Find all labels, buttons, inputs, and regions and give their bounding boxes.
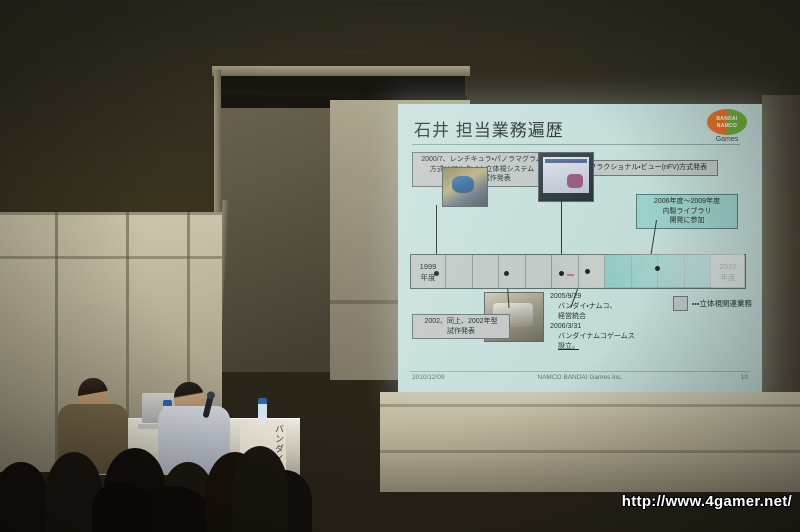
footer-company: NAMCO BANDAI Games Inc.: [398, 374, 762, 381]
timeline-start-year: 1999: [420, 261, 437, 272]
timeline-end-year: 2010: [720, 261, 737, 272]
audience-head: [232, 446, 288, 532]
audience-head: [92, 482, 150, 532]
event-1-line2: 設立。: [550, 342, 635, 352]
logo-line2: NAMCO: [707, 123, 747, 129]
bandai-namco-logo: BANDAI NAMCO Games: [700, 109, 754, 143]
timeline-dot-2006: [655, 266, 660, 271]
event-0-line1: バンダイ・ナムコ、: [550, 302, 635, 312]
timeline-dot-2004: [559, 271, 564, 276]
timeline-cell: [579, 255, 606, 288]
timeline-dot-2000: [434, 271, 439, 276]
legend-swatch-icon: [673, 296, 688, 311]
timeline-cell-highlight: [685, 255, 712, 288]
event-0-date: 2005/9/29: [550, 292, 635, 302]
booth-top-beam: [212, 66, 470, 76]
timeline-dot-2005: [585, 269, 590, 274]
partition-panel-far-right: [762, 95, 800, 425]
timeline-cell: [499, 255, 526, 288]
timeline: 1999 年度 2010 年度: [410, 254, 746, 289]
slide-title: 石井 担当業務遍歴: [414, 116, 564, 141]
timeline-end-unit: 年度: [721, 272, 736, 283]
timeline-cell: [526, 255, 553, 288]
timeline-cell: [446, 255, 473, 288]
callout-2006: 2006年度～2009年度 内製ライブラリ 開発に参加: [636, 194, 738, 229]
logo-oval-icon: BANDAI NAMCO: [707, 109, 747, 135]
title-divider: [412, 144, 740, 145]
timeline-cell-highlight: [658, 255, 685, 288]
timeline-pink-marker: [567, 274, 574, 276]
photo-nfv-screenshot: [538, 152, 594, 202]
logo-line1: BANDAI: [707, 116, 747, 122]
event-0-line2: 経営統合: [550, 312, 635, 322]
event-1-line1: バンダイナムコゲームス: [550, 332, 635, 342]
callout-2002-line1: 2002、同上、2002年型: [416, 317, 506, 327]
footer-page-number: 10: [741, 374, 748, 381]
callout-2000-line1: 2000/7、レンチキュラ・パノラマグラム: [416, 155, 548, 165]
timeline-start-label: 1999 年度: [411, 255, 446, 288]
event-1-date: 2006/3/31: [550, 322, 635, 332]
photo-prototype-2000: [442, 167, 488, 207]
timeline-cell: [552, 255, 579, 288]
timeline-end-label: 2010 年度: [711, 255, 745, 288]
water-bottle: [258, 398, 267, 424]
callout-2002-line2: 試作発表: [416, 327, 506, 337]
callout-2006-line2: 内製ライブラリ: [640, 207, 734, 217]
projected-slide: 石井 担当業務遍歴 BANDAI NAMCO Games 2000/7、レンチキ…: [398, 104, 762, 392]
audience-head: [0, 462, 48, 532]
footer-divider: [410, 371, 750, 372]
wall-lower-right: [380, 392, 800, 492]
timeline-cell-highlight: [632, 255, 659, 288]
timeline-cell-highlight: [605, 255, 632, 288]
watermark: http://www.4gamer.net/: [622, 493, 792, 510]
leader-line-2004: [561, 200, 562, 262]
conference-photo: 石井 担当業務遍歴 BANDAI NAMCO Games 2000/7、レンチキ…: [0, 0, 800, 532]
timeline-cell: [473, 255, 500, 288]
logo-subtitle: Games: [700, 136, 754, 143]
callout-2006-line1: 2006年度～2009年度: [640, 197, 734, 207]
event-list: 2005/9/29 バンダイ・ナムコ、 経営統合 2006/3/31 バンダイナ…: [550, 292, 635, 352]
callout-2002: 2002、同上、2002年型 試作発表: [412, 314, 510, 339]
timeline-dot-2002: [504, 271, 509, 276]
legend: ・・・立体視関連業務: [673, 296, 752, 311]
callout-2006-line3: 開発に参加: [640, 216, 734, 226]
slide-footer: 2010/12/09 NAMCO BANDAI Games Inc. 10: [398, 374, 762, 386]
legend-label: ・・・立体視関連業務: [692, 298, 752, 309]
